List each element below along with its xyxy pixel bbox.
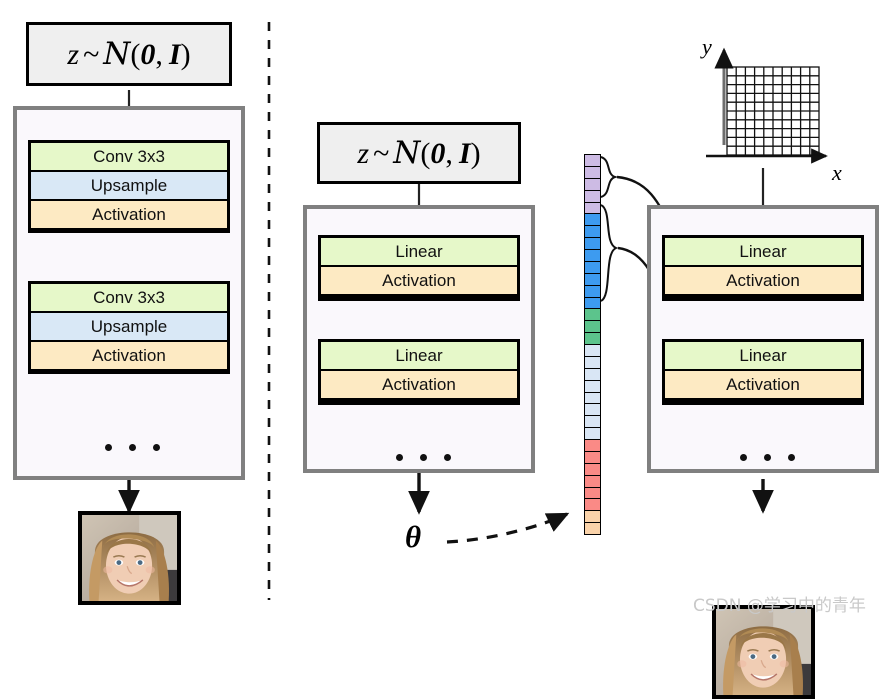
layer-activation-r2: Activation <box>665 369 861 398</box>
vector-cell <box>585 428 600 440</box>
latent-z-formula-left: z~N(0, I) <box>67 36 190 72</box>
conv-block-2: Conv 3x3 Upsample Activation <box>28 281 230 374</box>
latent-z-box-middle: z~N(0, I) <box>317 122 521 184</box>
vector-cell <box>585 404 600 416</box>
vector-cell <box>585 381 600 393</box>
implicit-generator-stack: Linear Activation Linear Activation <box>647 205 879 473</box>
vector-cell <box>585 250 600 262</box>
vector-cell <box>585 416 600 428</box>
vector-cell <box>585 191 600 203</box>
figure-canvas: z~N(0, I) Conv 3x3 Upsample Activation C… <box>0 0 896 621</box>
vector-cell <box>585 393 600 405</box>
vector-cell <box>585 167 600 179</box>
ellipsis-middle <box>388 452 458 462</box>
layer-activation-1: Activation <box>31 199 227 228</box>
brace-lower <box>601 205 616 301</box>
vector-cell <box>585 274 600 286</box>
mapping-network-stack: Linear Activation Linear Activation <box>303 205 535 473</box>
latent-z-box-left: z~N(0, I) <box>26 22 232 86</box>
vector-cell <box>585 357 600 369</box>
vector-cell <box>585 262 600 274</box>
layer-activation-m2: Activation <box>321 369 517 398</box>
layer-activation-m1: Activation <box>321 265 517 294</box>
layer-linear-r2: Linear <box>665 342 861 369</box>
layer-linear-m2: Linear <box>321 342 517 369</box>
brace-upper <box>601 157 615 197</box>
vector-cell <box>585 464 600 476</box>
vector-cell <box>585 298 600 310</box>
vector-cell <box>585 511 600 523</box>
vector-cell <box>585 369 600 381</box>
mapping-block-1: Linear Activation <box>318 235 520 301</box>
vector-cell <box>585 286 600 298</box>
vector-cell <box>585 214 600 226</box>
arrow-theta-to-vector <box>447 514 567 542</box>
vector-cell <box>585 452 600 464</box>
vector-cell <box>585 440 600 452</box>
implicit-block-2: Linear Activation <box>662 339 864 405</box>
layer-activation-2: Activation <box>31 340 227 369</box>
layer-upsample-2: Upsample <box>31 311 227 340</box>
implicit-block-1: Linear Activation <box>662 235 864 301</box>
mapping-block-2: Linear Activation <box>318 339 520 405</box>
generated-face-image-right <box>712 605 815 699</box>
ellipsis-left <box>97 442 167 452</box>
vector-cell <box>585 238 600 250</box>
vector-cell <box>585 523 600 534</box>
generated-face-image-left <box>78 511 181 605</box>
layer-conv-1: Conv 3x3 <box>31 143 227 170</box>
vector-cell <box>585 226 600 238</box>
theta-symbol: θ <box>405 519 421 555</box>
vector-cell <box>585 179 600 191</box>
layer-upsample-1: Upsample <box>31 170 227 199</box>
grid-cells <box>727 67 819 155</box>
latent-z-formula-middle: z~N(0, I) <box>357 135 480 171</box>
vector-cell <box>585 499 600 511</box>
grid-x-axis-label: x <box>832 160 842 186</box>
layer-activation-r1: Activation <box>665 265 861 294</box>
grid-y-axis-label: y <box>702 34 712 60</box>
vector-cell <box>585 203 600 215</box>
ellipsis-right <box>732 452 802 462</box>
vector-cell <box>585 476 600 488</box>
vector-cell <box>585 321 600 333</box>
layer-conv-2: Conv 3x3 <box>31 284 227 311</box>
vector-cell <box>585 333 600 345</box>
layer-linear-m1: Linear <box>321 238 517 265</box>
vector-cell <box>585 309 600 321</box>
vector-cell <box>585 155 600 167</box>
watermark-text: CSDN @学习中的青年 <box>693 591 866 616</box>
vector-cell <box>585 488 600 500</box>
conv-block-1: Conv 3x3 Upsample Activation <box>28 140 230 233</box>
conv-generator-stack: Conv 3x3 Upsample Activation Conv 3x3 Up… <box>13 106 245 480</box>
layer-linear-r1: Linear <box>665 238 861 265</box>
vector-cell <box>585 345 600 357</box>
predicted-weight-vector <box>584 154 601 535</box>
